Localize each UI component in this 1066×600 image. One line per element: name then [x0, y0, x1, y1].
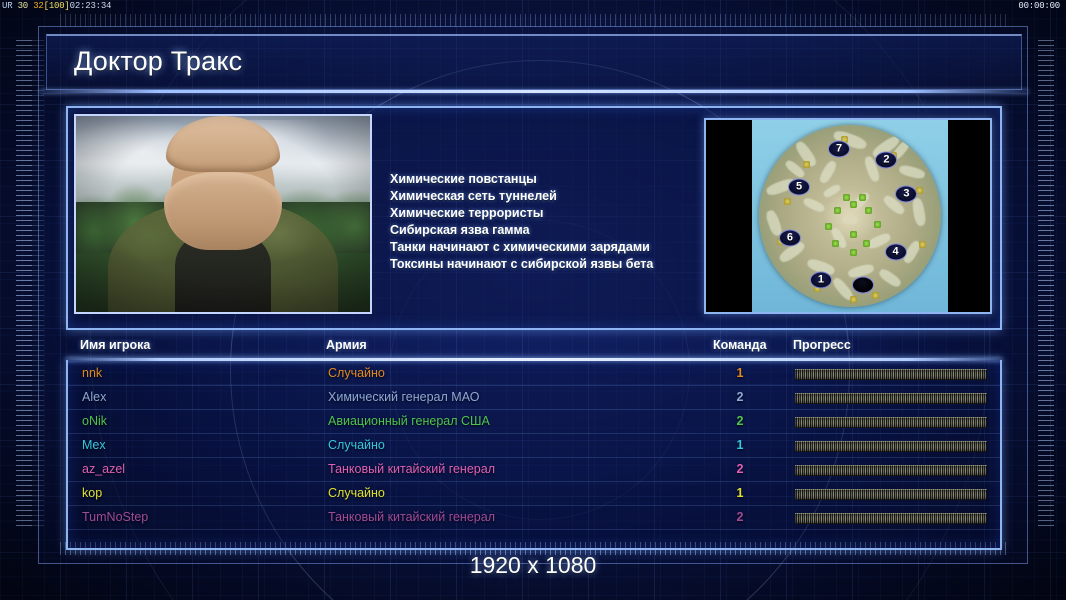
- table-header: Имя игрока Армия Команда Прогресс: [66, 336, 1002, 358]
- map-start-position-empty[interactable]: [852, 277, 874, 294]
- player-name: kop: [82, 486, 102, 500]
- player-army: Танковый китайский генерал: [328, 462, 495, 476]
- table-row[interactable]: kopСлучайно1: [68, 482, 1000, 506]
- map-start-position-7[interactable]: 7: [828, 140, 850, 157]
- column-header-name: Имя игрока: [80, 338, 150, 352]
- map-start-position-6[interactable]: 6: [779, 229, 801, 246]
- description-line: Токсины начинают с сибирской язвы бета: [390, 256, 653, 273]
- player-progress-bar: [795, 417, 987, 428]
- perf-value: 32: [33, 1, 43, 11]
- player-name: nnk: [82, 366, 102, 380]
- player-progress-bar: [795, 441, 987, 452]
- map-supply-marker: [872, 292, 879, 299]
- map-maze-wall: [911, 198, 927, 227]
- player-progress-bar: [795, 369, 987, 380]
- player-name: az_azel: [82, 462, 125, 476]
- player-name: Alex: [82, 390, 106, 404]
- perf-fps: 30: [18, 1, 28, 11]
- map-start-position-2[interactable]: 2: [875, 151, 897, 168]
- page-title: Доктор Тракс: [74, 46, 242, 77]
- map-maze-wall: [877, 267, 902, 289]
- description-line: Танки начинают с химическими зарядами: [390, 239, 653, 256]
- map-supply-marker: [919, 241, 926, 248]
- player-team: 2: [730, 462, 750, 476]
- player-army: Случайно: [328, 438, 385, 452]
- title-divider: [40, 90, 1028, 93]
- map-supply-marker: [843, 194, 850, 201]
- player-progress-bar: [795, 513, 987, 524]
- map-supply-marker: [859, 194, 866, 201]
- table-row[interactable]: AlexХимический генерал МАО2: [68, 386, 1000, 410]
- column-header-progress: Прогресс: [793, 338, 851, 352]
- map-supply-marker: [834, 207, 841, 214]
- map-supply-marker: [832, 240, 839, 247]
- player-army: Авиационный генерал США: [328, 414, 490, 428]
- player-team: 1: [730, 486, 750, 500]
- map-terrain-disc: 7253641: [759, 125, 941, 307]
- portrait-vignette: [76, 116, 370, 312]
- map-supply-marker: [850, 296, 857, 303]
- player-army: Случайно: [328, 366, 385, 380]
- map-supply-marker: [850, 201, 857, 208]
- mission-description: Химические повстанцы Химическая сеть тун…: [390, 171, 653, 273]
- player-team: 1: [730, 438, 750, 452]
- column-header-army: Армия: [326, 338, 367, 352]
- player-team: 2: [730, 390, 750, 404]
- map-maze-wall: [818, 159, 839, 185]
- map-supply-marker: [850, 231, 857, 238]
- table-row[interactable]: az_azelТанковый китайский генерал2: [68, 458, 1000, 482]
- portrait-image: [74, 114, 372, 314]
- map-supply-marker: [865, 207, 872, 214]
- perf-prefix: UR: [2, 1, 12, 11]
- top-status-bar: UR 30 32[100]02:23:34 00:00:00: [0, 0, 1066, 13]
- player-name: Mex: [82, 438, 106, 452]
- player-army: Танковый китайский генерал: [328, 510, 495, 524]
- ruler-right: [1038, 40, 1054, 530]
- player-team: 2: [730, 510, 750, 524]
- table-row[interactable]: oNikАвиационный генерал США2: [68, 410, 1000, 434]
- player-progress-bar: [795, 489, 987, 500]
- player-army: Случайно: [328, 486, 385, 500]
- player-army: Химический генерал МАО: [328, 390, 479, 404]
- player-team: 2: [730, 414, 750, 428]
- map-supply-marker: [850, 249, 857, 256]
- player-progress-bar: [795, 465, 987, 476]
- player-name: oNik: [82, 414, 107, 428]
- players-table-body: nnkСлучайно1AlexХимический генерал МАО2o…: [68, 362, 1000, 530]
- map-start-position-5[interactable]: 5: [788, 178, 810, 195]
- map-supply-marker: [863, 240, 870, 247]
- minimap: 7253641: [704, 118, 992, 314]
- minimap-canvas: 7253641: [752, 120, 948, 312]
- map-start-position-4[interactable]: 4: [885, 244, 907, 261]
- player-team: 1: [730, 366, 750, 380]
- map-supply-marker: [784, 198, 791, 205]
- map-supply-marker: [803, 161, 810, 168]
- description-line: Химические повстанцы: [390, 171, 653, 188]
- game-loading-screen: UR 30 32[100]02:23:34 00:00:00 Доктор Тр…: [0, 0, 1066, 600]
- map-maze-wall: [898, 164, 926, 180]
- description-line: Химическая сеть туннелей: [390, 188, 653, 205]
- map-start-position-3[interactable]: 3: [895, 186, 917, 203]
- player-name: TumNoStep: [82, 510, 148, 524]
- perf-time: 02:23:34: [70, 1, 112, 11]
- map-supply-marker: [874, 221, 881, 228]
- table-row[interactable]: nnkСлучайно1: [68, 362, 1000, 386]
- description-line: Сибирская язва гамма: [390, 222, 653, 239]
- performance-readout: UR 30 32[100]02:23:34: [2, 0, 111, 13]
- clock-readout: 00:00:00: [1018, 0, 1060, 13]
- resolution-label: 1920 x 1080: [0, 552, 1066, 579]
- map-maze-wall: [802, 196, 826, 213]
- table-row[interactable]: MexСлучайно1: [68, 434, 1000, 458]
- perf-bracket: [100]: [44, 1, 70, 11]
- map-supply-marker: [825, 223, 832, 230]
- description-line: Химические террористы: [390, 205, 653, 222]
- column-header-team: Команда: [713, 338, 767, 352]
- table-row[interactable]: TumNoStepТанковый китайский генерал2: [68, 506, 1000, 530]
- map-start-position-1[interactable]: 1: [810, 271, 832, 288]
- player-progress-bar: [795, 393, 987, 404]
- table-header-divider: [66, 358, 1002, 361]
